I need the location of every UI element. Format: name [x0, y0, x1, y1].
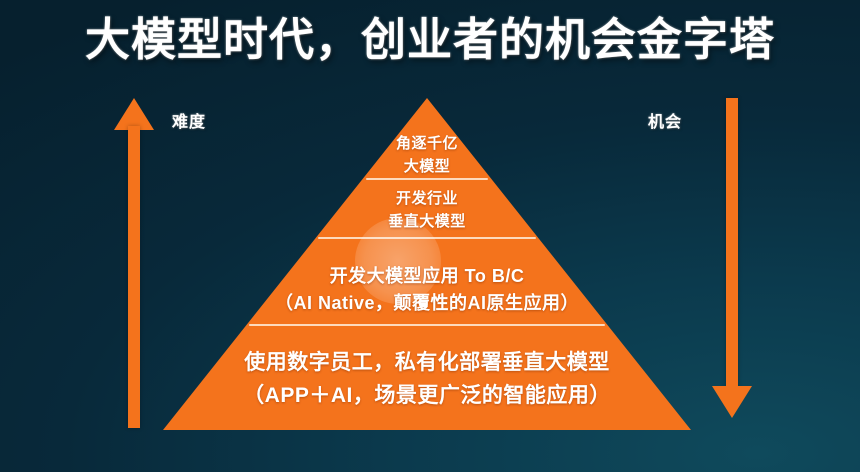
- pyramid-tier-4-line-2: （APP＋AI，场景更广泛的智能应用）: [163, 379, 691, 412]
- page-title: 大模型时代，创业者的机会金字塔: [0, 12, 860, 68]
- arrow-up-icon: [112, 98, 156, 428]
- pyramid-tier-3-line-1: 开发大模型应用 To B/C: [163, 263, 691, 290]
- pyramid-tier-3: 开发大模型应用 To B/C （AI Native，颠覆性的AI原生应用）: [163, 263, 691, 317]
- arrow-down-shaft: [726, 98, 738, 390]
- pyramid-tier-2-line-1: 开发行业: [163, 187, 691, 210]
- pyramid-divider-1: [366, 178, 488, 180]
- pyramid-tier-1: 角逐千亿 大模型: [163, 132, 691, 178]
- arrow-down-head: [712, 386, 752, 418]
- pyramid-tier-4: 使用数字员工，私有化部署垂直大模型 （APP＋AI，场景更广泛的智能应用）: [163, 346, 691, 412]
- pyramid-tier-4-line-1: 使用数字员工，私有化部署垂直大模型: [163, 346, 691, 379]
- arrow-up-shaft: [128, 126, 140, 428]
- pyramid-tier-1-line-1: 角逐千亿: [163, 132, 691, 155]
- pyramid-divider-2: [318, 237, 536, 239]
- slide-canvas: 大模型时代，创业者的机会金字塔 难度 机会 角逐千亿 大模型 开发行业 垂直大模…: [0, 0, 860, 472]
- pyramid-tier-2-line-2: 垂直大模型: [163, 210, 691, 233]
- pyramid-divider-3: [249, 324, 605, 326]
- pyramid-tier-3-line-2: （AI Native，颠覆性的AI原生应用）: [163, 290, 691, 317]
- pyramid-tier-2: 开发行业 垂直大模型: [163, 187, 691, 233]
- opportunity-pyramid: 角逐千亿 大模型 开发行业 垂直大模型 开发大模型应用 To B/C （AI N…: [163, 98, 691, 430]
- arrow-down-icon: [710, 98, 754, 418]
- pyramid-tier-1-line-2: 大模型: [163, 155, 691, 178]
